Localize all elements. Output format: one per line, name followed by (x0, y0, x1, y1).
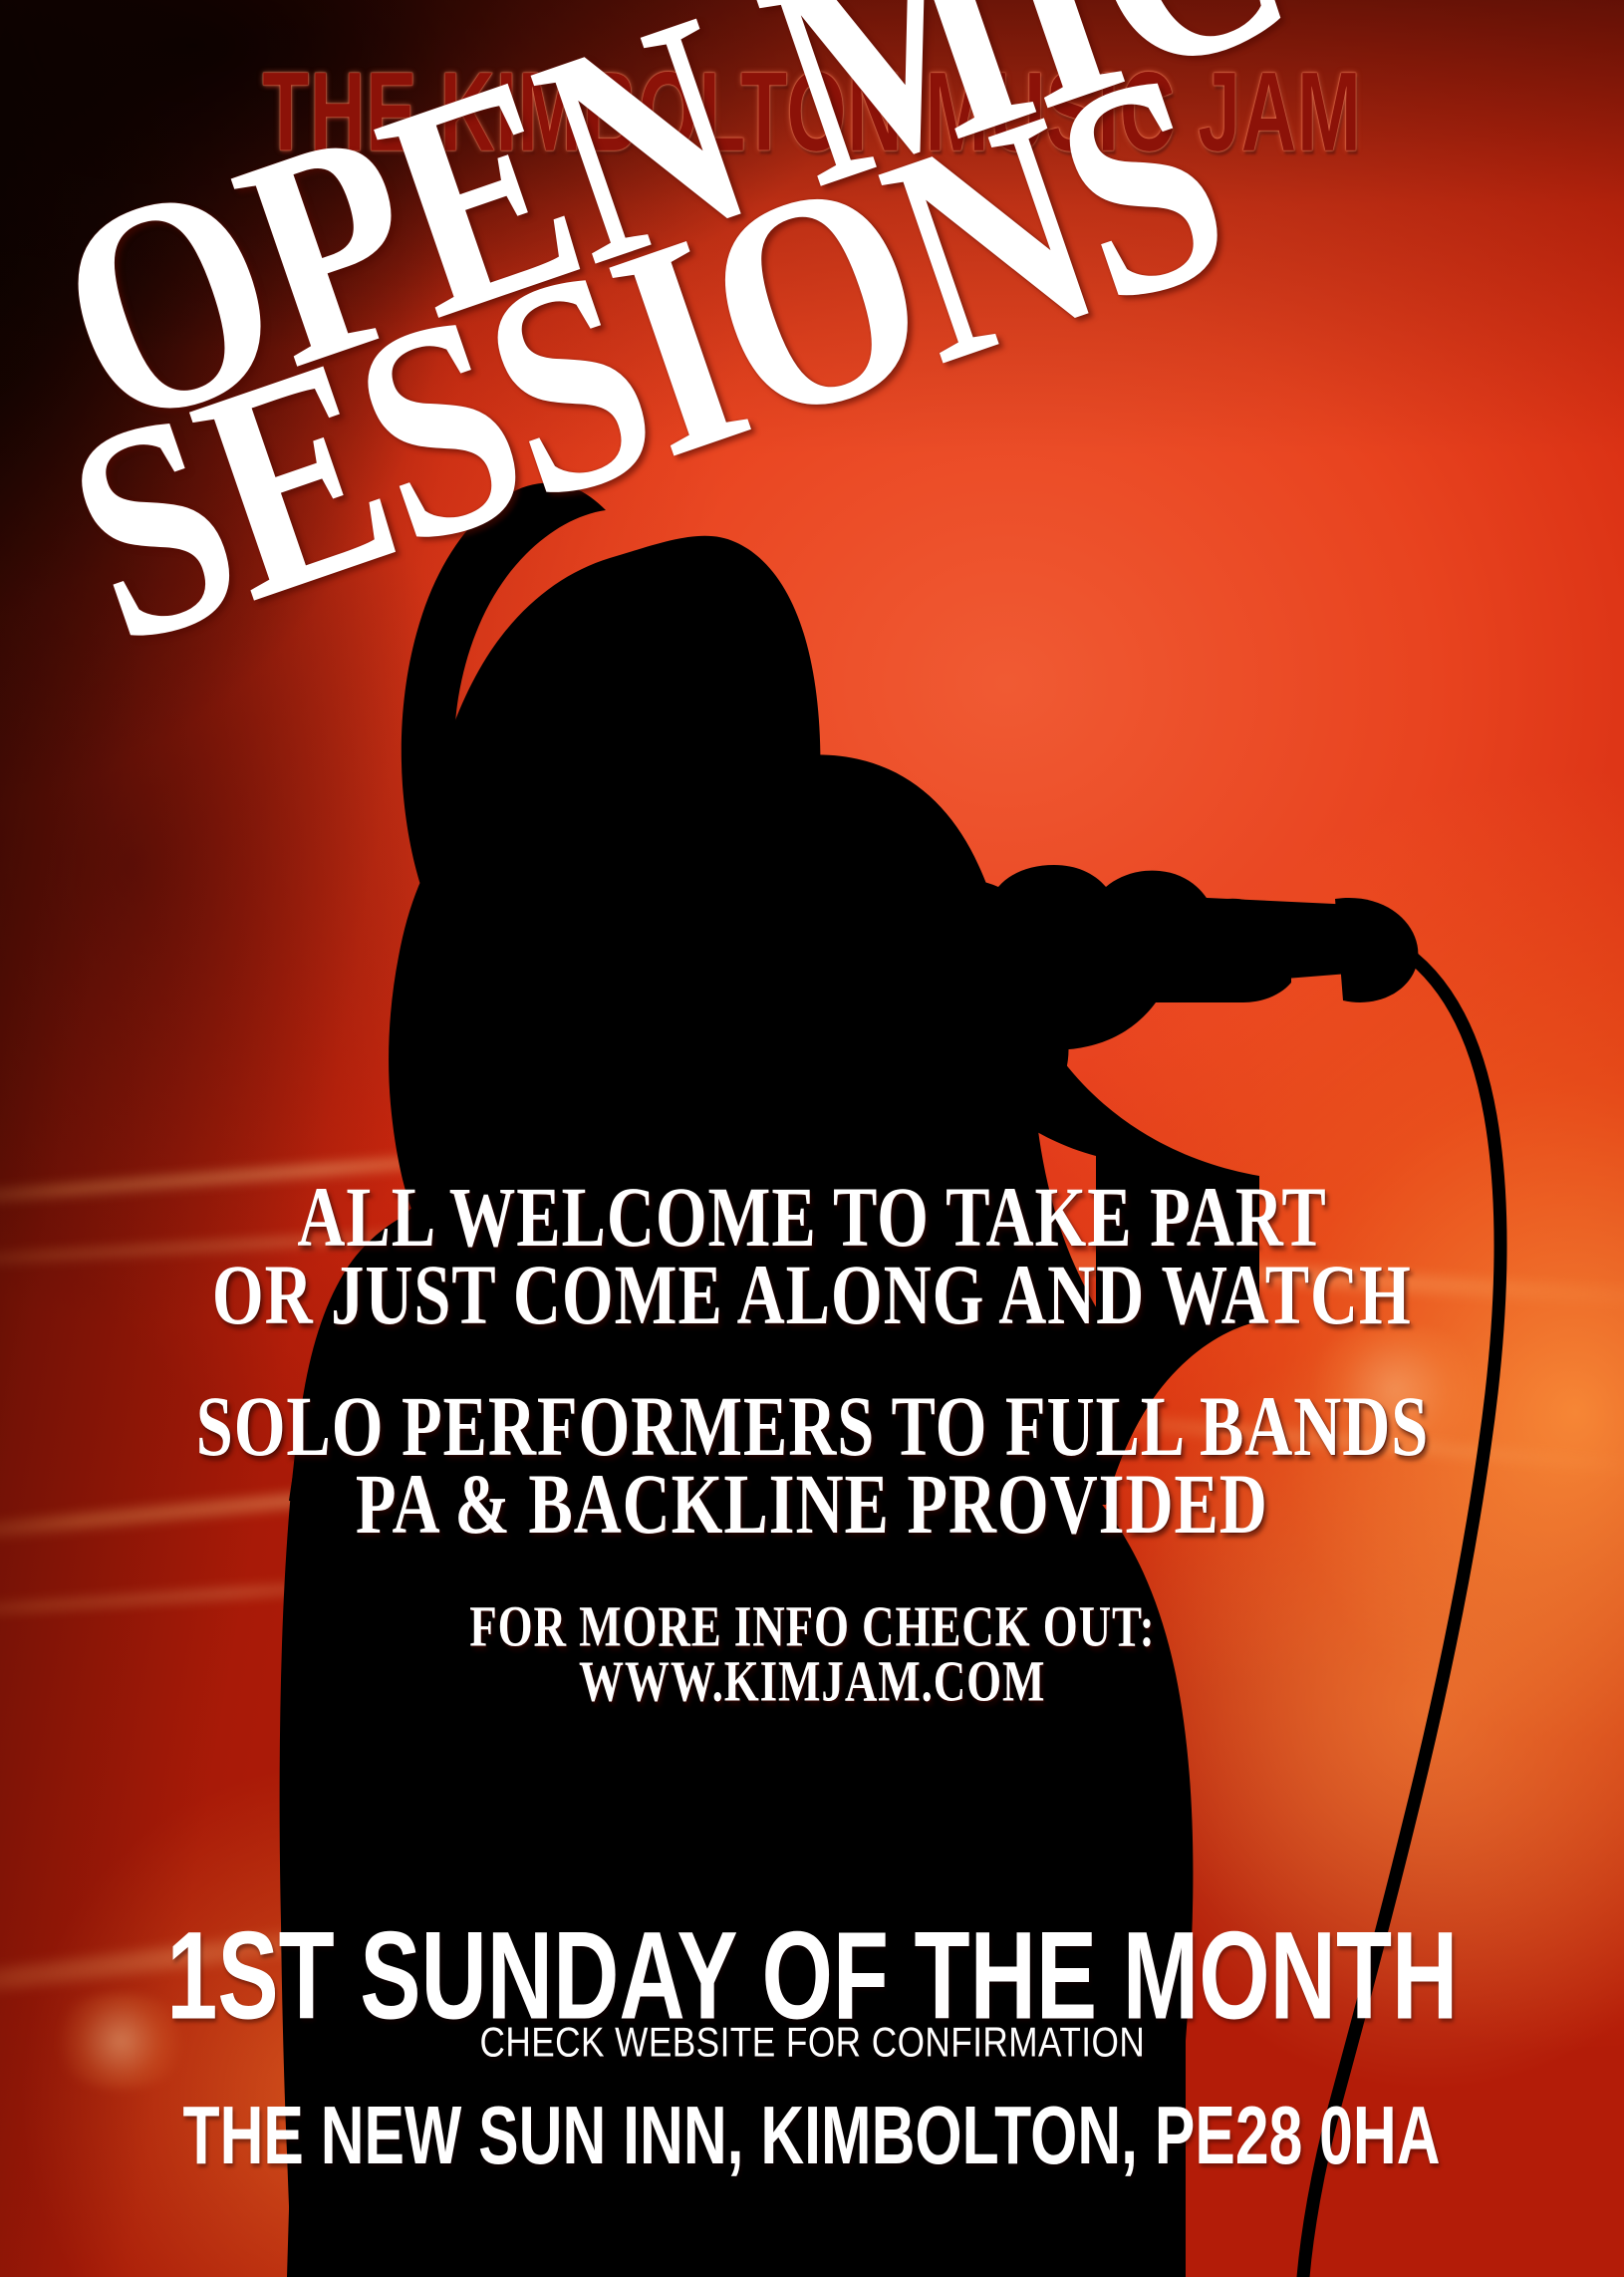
welcome-line-2: OR JUST COME ALONG AND WATCH (0, 1254, 1624, 1338)
schedule-note-text: CHECK WEBSITE FOR CONFIRMATION (479, 2020, 1145, 2067)
schedule-note: CHECK WEBSITE FOR CONFIRMATION (0, 2021, 1624, 2066)
website-link-text: WWW.KIMJAM.COM (579, 1647, 1045, 1714)
microphone (1186, 897, 1389, 987)
website-link[interactable]: WWW.KIMJAM.COM (0, 1652, 1624, 1710)
venue-address-text: THE NEW SUN INN, KIMBOLTON, PE28 0HA (183, 2088, 1441, 2182)
performers-line-2-text: PA & BACKLINE PROVIDED (356, 1456, 1268, 1555)
headline-block: OPEN MIC SESSIONS (0, 0, 1521, 714)
performers-line-2: PA & BACKLINE PROVIDED (0, 1463, 1624, 1548)
microphone-head (1335, 898, 1418, 1002)
hand-gripping-microphone (861, 865, 1291, 1050)
singer-jaw (763, 977, 937, 1073)
singer-head (423, 536, 821, 1169)
venue-address: THE NEW SUN INN, KIMBOLTON, PE28 0HA (0, 2093, 1624, 2177)
welcome-line-2-text: OR JUST COME ALONG AND WATCH (212, 1247, 1412, 1345)
poster-canvas: THE KIMBOLTON MUSIC JAM OPEN MIC SESSION… (0, 0, 1624, 2277)
info-prompt: FOR MORE INFO CHECK OUT: (0, 1597, 1624, 1655)
